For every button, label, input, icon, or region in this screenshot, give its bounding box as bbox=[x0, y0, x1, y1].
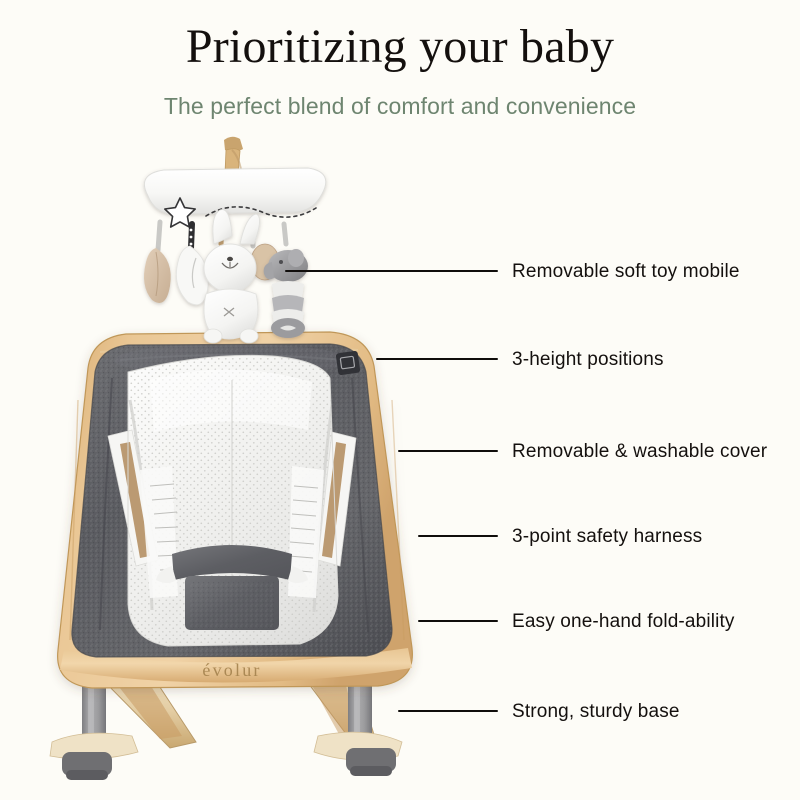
callout-label: Easy one-hand fold-ability bbox=[512, 609, 735, 635]
callout-label: 3-point safety harness bbox=[512, 524, 702, 550]
page-title: Prioritizing your baby bbox=[0, 22, 800, 72]
infographic-canvas: évolur bbox=[0, 0, 800, 800]
mobile-toy-elephant bbox=[264, 249, 308, 338]
brand-wordmark: évolur bbox=[202, 660, 261, 680]
callout-label: Strong, sturdy base bbox=[512, 699, 680, 725]
product-image: évolur bbox=[0, 0, 800, 800]
mobile-toy-leaf-white bbox=[176, 246, 208, 305]
mobile-toy-bunny bbox=[204, 210, 260, 343]
page-subtitle: The perfect blend of comfort and conveni… bbox=[0, 94, 800, 119]
mobile-toy-leaf-beige bbox=[144, 248, 171, 303]
seat-brand-tag bbox=[336, 351, 361, 376]
callout-label: Removable & washable cover bbox=[512, 439, 767, 465]
callout-label: Removable soft toy mobile bbox=[512, 259, 740, 285]
callout-label: 3-height positions bbox=[512, 347, 664, 373]
toy-mobile bbox=[144, 137, 326, 343]
seat-white-insert bbox=[108, 345, 356, 655]
